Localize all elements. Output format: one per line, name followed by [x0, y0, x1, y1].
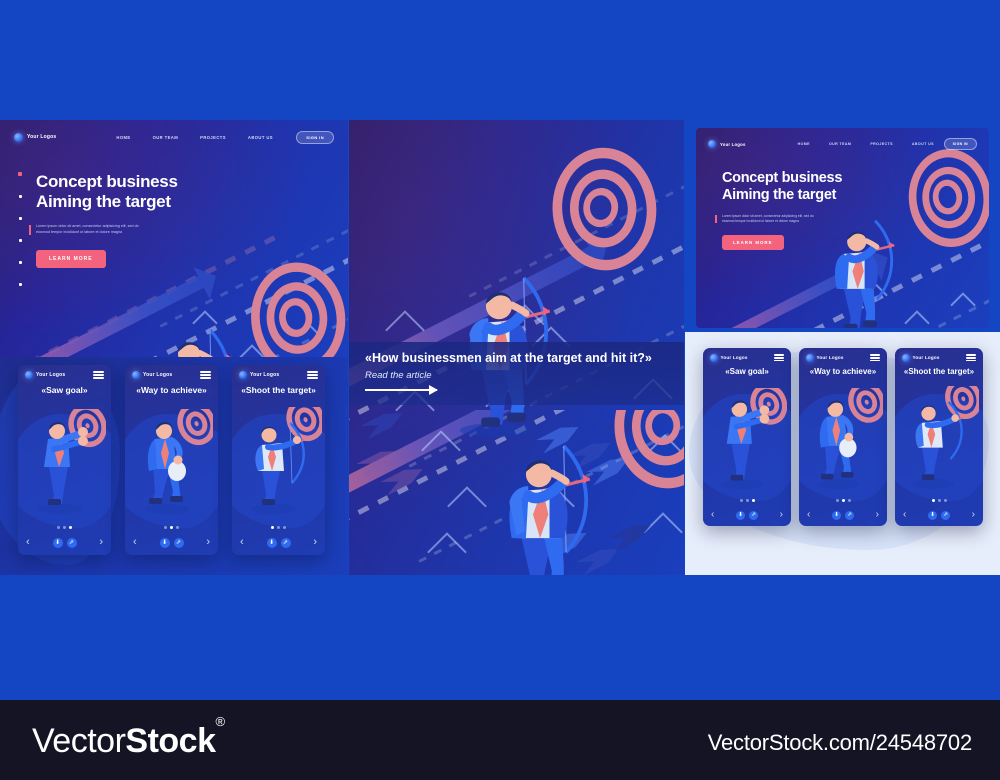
- logo-text: Your Logos: [27, 134, 56, 140]
- hero-title-line-1: Concept business: [722, 170, 842, 187]
- next-button[interactable]: ›: [780, 510, 783, 520]
- card-illustration-saw-goal: [26, 409, 106, 519]
- middle-panel: «How businessmen aim at the target and h…: [349, 120, 684, 575]
- dot-indicator-active[interactable]: [170, 526, 173, 529]
- prev-button[interactable]: ‹: [240, 537, 244, 548]
- nav-link-about-us[interactable]: ABOUT US: [912, 142, 934, 146]
- card-navbar: Your Logos: [895, 348, 983, 368]
- dot-indicator[interactable]: [19, 261, 22, 264]
- dot-indicator[interactable]: [944, 499, 947, 502]
- registered-mark: ®: [215, 714, 224, 729]
- logo-mark-icon: [902, 354, 910, 362]
- hero-title-line-2: Aiming the target: [36, 192, 178, 212]
- card-navbar: Your Logos: [799, 348, 887, 368]
- hamburger-menu-icon[interactable]: [307, 371, 318, 379]
- nav-link-about-us[interactable]: ABOUT US: [248, 135, 273, 140]
- hamburger-menu-icon[interactable]: [774, 354, 784, 361]
- hero-paragraph: Lorem ipsum dolor sit amet, consectetur …: [36, 224, 148, 235]
- card-dots: [703, 499, 791, 502]
- nav-link-our-team[interactable]: OUR TEAM: [829, 142, 851, 146]
- logo-text: Your Logos: [720, 142, 746, 147]
- share-icon[interactable]: ⇗: [941, 511, 950, 520]
- mobile-card-1[interactable]: Your Logos «Saw goal»: [18, 365, 111, 555]
- card-logo-text: Your Logos: [36, 372, 65, 378]
- card-illustration-saw-goal: [709, 388, 787, 494]
- card-footer: ‹ ⬇ ⇗ ›: [703, 510, 791, 520]
- hamburger-menu-icon[interactable]: [93, 371, 104, 379]
- signin-button[interactable]: SIGN IN: [944, 138, 977, 150]
- mobile-card-1[interactable]: Your Logos «Saw goal»: [703, 348, 791, 526]
- dot-indicator[interactable]: [19, 239, 22, 242]
- logo-mark-icon: [25, 371, 33, 379]
- prev-button[interactable]: ‹: [711, 510, 714, 520]
- logo[interactable]: Your Logos: [708, 140, 746, 148]
- hero-paragraph: Lorem ipsum dolor sit amet, consectetur …: [722, 214, 822, 224]
- watermark-bar: VectorStock® VectorStock.com/24548702: [0, 700, 1000, 780]
- dot-indicator-active[interactable]: [18, 172, 22, 176]
- left-panel: Your Logos HOME OUR TEAM PROJECTS ABOUT …: [0, 120, 348, 575]
- mobile-card-2[interactable]: Your Logos «Way to achieve»: [125, 365, 218, 555]
- prev-button[interactable]: ‹: [133, 537, 137, 548]
- next-button[interactable]: ›: [972, 510, 975, 520]
- prev-button[interactable]: ‹: [26, 537, 30, 548]
- download-icon[interactable]: ⬇: [267, 538, 277, 548]
- next-button[interactable]: ›: [206, 537, 210, 548]
- dot-indicator-active[interactable]: [69, 526, 72, 529]
- hamburger-menu-icon[interactable]: [870, 354, 880, 361]
- dot-indicator[interactable]: [63, 526, 66, 529]
- brand-thin: Vector: [32, 722, 125, 760]
- card-logo-text: Your Logos: [143, 372, 172, 378]
- dot-indicator[interactable]: [19, 283, 22, 286]
- logo-mark-icon: [710, 354, 718, 362]
- learn-more-button[interactable]: LEARN MORE: [722, 235, 784, 250]
- left-cards-strip: Your Logos «Saw goal»: [0, 357, 348, 575]
- card-footer: ‹ ⬇ ⇗ ›: [232, 537, 325, 548]
- next-button[interactable]: ›: [313, 537, 317, 548]
- logo-mark-icon: [132, 371, 140, 379]
- card-dots: [799, 499, 887, 502]
- vectorstock-url: VectorStock.com/24548702: [708, 730, 972, 756]
- right-cards-strip: Your Logos «Saw goal»: [685, 332, 1000, 575]
- mobile-card-2[interactable]: Your Logos «Way to achieve»: [799, 348, 887, 526]
- nav-link-home[interactable]: HOME: [116, 135, 130, 140]
- download-icon[interactable]: ⬇: [736, 511, 745, 520]
- card-logo-text: Your Logos: [817, 355, 844, 360]
- dot-indicator[interactable]: [938, 499, 941, 502]
- card-navbar: Your Logos: [125, 365, 218, 385]
- next-button[interactable]: ›: [99, 537, 103, 548]
- dot-indicator-active[interactable]: [271, 526, 274, 529]
- download-icon[interactable]: ⬇: [928, 511, 937, 520]
- dot-indicator-active[interactable]: [842, 499, 845, 502]
- right-hero: Your Logos HOME OUR TEAM PROJECTS ABOUT …: [696, 128, 989, 328]
- nav-link-projects[interactable]: PROJECTS: [870, 142, 893, 146]
- dot-indicator[interactable]: [19, 195, 22, 198]
- read-article-arrow-icon[interactable]: [365, 389, 437, 391]
- screenshot-root: Your Logos HOME OUR TEAM PROJECTS ABOUT …: [0, 0, 1000, 780]
- card-title: «Shoot the target»: [232, 385, 325, 395]
- share-icon[interactable]: ⇗: [281, 538, 291, 548]
- nav-link-projects[interactable]: PROJECTS: [200, 135, 226, 140]
- hamburger-menu-icon[interactable]: [200, 371, 211, 379]
- prev-button[interactable]: ‹: [903, 510, 906, 520]
- article-question: «How businessmen aim at the target and h…: [365, 351, 668, 365]
- card-actions: ⬇ ⇗: [928, 511, 950, 520]
- card-footer: ‹ ⬇ ⇗ ›: [125, 537, 218, 548]
- card-logo[interactable]: Your Logos: [902, 354, 940, 362]
- share-icon[interactable]: ⇗: [749, 511, 758, 520]
- card-title: «Way to achieve»: [125, 385, 218, 395]
- signin-button[interactable]: SIGN IN: [296, 131, 334, 144]
- left-hero: Your Logos HOME OUR TEAM PROJECTS ABOUT …: [0, 120, 348, 357]
- card-logo[interactable]: Your Logos: [806, 354, 844, 362]
- card-logo[interactable]: Your Logos: [710, 354, 748, 362]
- next-button[interactable]: ›: [876, 510, 879, 520]
- card-logo-text: Your Logos: [913, 355, 940, 360]
- logo-mark-icon: [239, 371, 247, 379]
- card-title: «Saw goal»: [18, 385, 111, 395]
- dot-indicator[interactable]: [19, 217, 22, 220]
- dot-indicator[interactable]: [746, 499, 749, 502]
- right-panel: Your Logos HOME OUR TEAM PROJECTS ABOUT …: [685, 120, 1000, 575]
- logo-mark-icon: [14, 133, 23, 142]
- share-icon[interactable]: ⇗: [174, 538, 184, 548]
- artboard: Your Logos HOME OUR TEAM PROJECTS ABOUT …: [0, 120, 1000, 575]
- dot-indicator[interactable]: [836, 499, 839, 502]
- card-actions: ⬇ ⇗: [267, 538, 291, 548]
- dot-indicator[interactable]: [848, 499, 851, 502]
- card-illustration-shoot-the-target: [238, 407, 322, 519]
- card-logo[interactable]: Your Logos: [132, 371, 172, 379]
- archer-illustration: [140, 316, 250, 357]
- card-title: «Way to achieve»: [799, 367, 887, 376]
- prev-button[interactable]: ‹: [807, 510, 810, 520]
- dot-indicator-active[interactable]: [752, 499, 755, 502]
- share-icon[interactable]: ⇗: [845, 511, 854, 520]
- card-illustration-way-to-achieve: [805, 388, 883, 494]
- card-dots: [895, 499, 983, 502]
- card-logo[interactable]: Your Logos: [25, 371, 65, 379]
- dot-rail: [18, 172, 22, 286]
- nav-link-home[interactable]: HOME: [798, 142, 810, 146]
- hero-title-line-2: Aiming the target: [722, 187, 842, 204]
- nav-link-our-team[interactable]: OUR TEAM: [153, 135, 179, 140]
- card-dots: [232, 526, 325, 529]
- brand-bold: Stock: [125, 722, 215, 760]
- card-logo-text: Your Logos: [250, 372, 279, 378]
- dot-indicator[interactable]: [740, 499, 743, 502]
- card-actions: ⬇ ⇗: [53, 538, 77, 548]
- left-hero-navbar: Your Logos HOME OUR TEAM PROJECTS ABOUT …: [0, 126, 348, 148]
- hamburger-menu-icon[interactable]: [966, 354, 976, 361]
- logo-mark-icon: [708, 140, 716, 148]
- card-navbar: Your Logos: [703, 348, 791, 368]
- card-navbar: Your Logos: [232, 365, 325, 385]
- card-title: «Saw goal»: [703, 367, 791, 376]
- target-graphic: [598, 410, 684, 488]
- card-logo[interactable]: Your Logos: [239, 371, 279, 379]
- mobile-card-3[interactable]: Your Logos «Shoot the target»: [232, 365, 325, 555]
- card-illustration-way-to-achieve: [133, 409, 213, 519]
- nav-links: HOME OUR TEAM PROJECTS ABOUT US: [798, 142, 934, 146]
- card-navbar: Your Logos: [18, 365, 111, 385]
- dot-indicator[interactable]: [57, 526, 60, 529]
- mobile-card-3[interactable]: Your Logos «Shoot the target»: [895, 348, 983, 526]
- card-actions: ⬇ ⇗: [736, 511, 758, 520]
- card-footer: ‹ ⬇ ⇗ ›: [799, 510, 887, 520]
- card-logo-text: Your Logos: [721, 355, 748, 360]
- download-icon[interactable]: ⬇: [160, 538, 170, 548]
- middle-lower-scene: [349, 410, 684, 575]
- right-hero-copy: Concept business Aiming the target Lorem…: [722, 170, 842, 250]
- share-icon[interactable]: ⇗: [67, 538, 77, 548]
- download-icon[interactable]: ⬇: [53, 538, 63, 548]
- card-illustration-shoot-the-target: [899, 386, 979, 494]
- card-actions: ⬇ ⇗: [832, 511, 854, 520]
- middle-caption: «How businessmen aim at the target and h…: [349, 342, 684, 405]
- card-dots: [18, 526, 111, 529]
- card-actions: ⬇ ⇗: [160, 538, 184, 548]
- left-hero-copy: Concept business Aiming the target Lorem…: [36, 172, 178, 268]
- right-hero-navbar: Your Logos HOME OUR TEAM PROJECTS ABOUT …: [696, 134, 989, 154]
- archer-illustration: [481, 428, 611, 575]
- card-dots: [125, 526, 218, 529]
- download-icon[interactable]: ⬇: [832, 511, 841, 520]
- hero-title-line-1: Concept business: [36, 172, 178, 192]
- card-footer: ‹ ⬇ ⇗ ›: [895, 510, 983, 520]
- chevron-arrow-icon: [643, 512, 683, 552]
- logo[interactable]: Your Logos: [14, 133, 56, 142]
- dot-indicator[interactable]: [283, 526, 286, 529]
- dot-indicator[interactable]: [277, 526, 280, 529]
- vectorstock-logo: VectorStock®: [32, 722, 225, 761]
- card-title: «Shoot the target»: [895, 367, 983, 376]
- learn-more-button[interactable]: LEARN MORE: [36, 250, 106, 268]
- nav-links: HOME OUR TEAM PROJECTS ABOUT US: [116, 135, 273, 140]
- read-article-label[interactable]: Read the article: [365, 370, 668, 381]
- dot-indicator[interactable]: [176, 526, 179, 529]
- dot-indicator[interactable]: [164, 526, 167, 529]
- logo-mark-icon: [806, 354, 814, 362]
- card-footer: ‹ ⬇ ⇗ ›: [18, 537, 111, 548]
- dot-indicator-active[interactable]: [932, 499, 935, 502]
